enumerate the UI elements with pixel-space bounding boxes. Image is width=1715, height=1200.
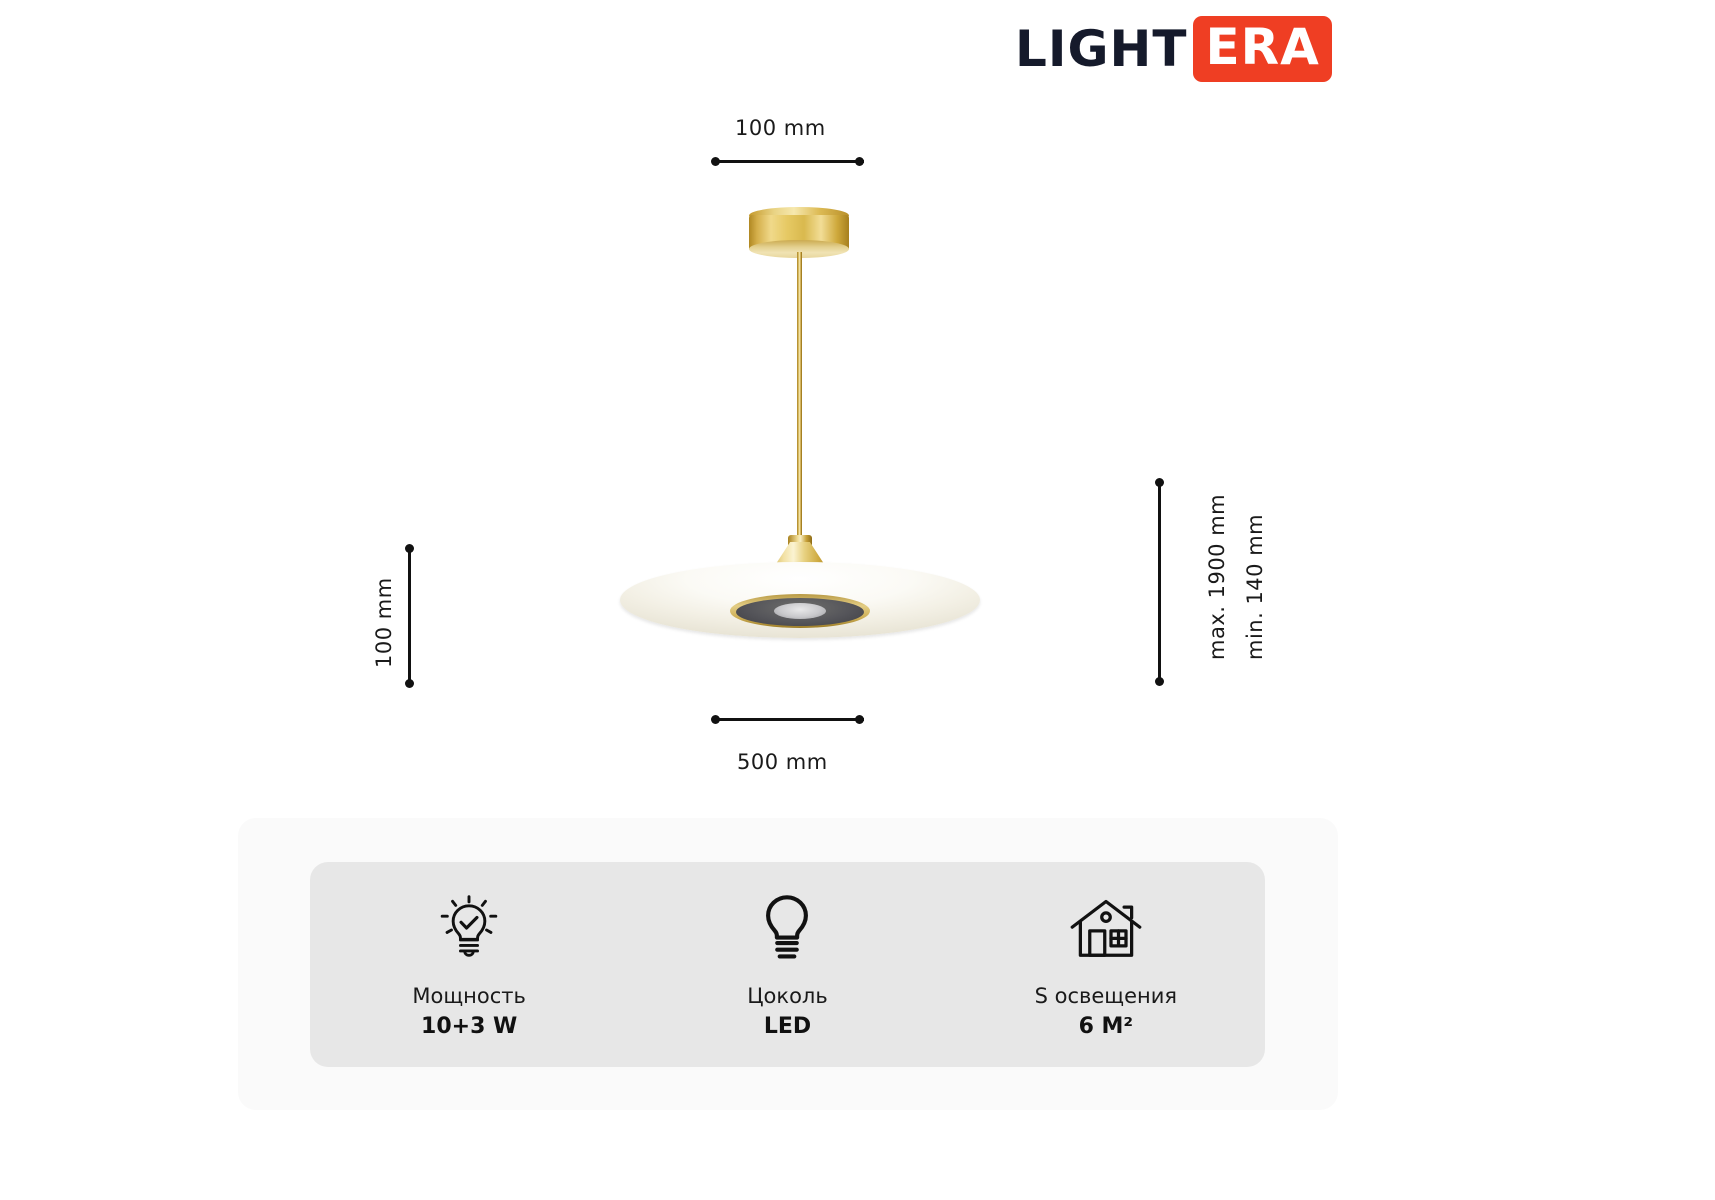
spec-value: 10+3 W <box>421 1013 517 1042</box>
spec-title: Цоколь <box>747 983 827 1009</box>
dimension-endpoint-top-right <box>855 157 864 166</box>
spec-card-socket: Цоколь LED <box>628 862 946 1067</box>
logo-text-era: ERA <box>1193 16 1331 82</box>
dimension-line-top <box>716 160 864 163</box>
led-module <box>774 603 826 619</box>
spec-value: LED <box>764 1013 811 1042</box>
spec-panel: Мощность 10+3 W Цоколь LED <box>310 862 1265 1067</box>
dimension-label-max-height: max. 1900 mm <box>1205 494 1229 660</box>
spec-title: S освещения <box>1035 983 1177 1009</box>
dimension-endpoint-right-top <box>1155 478 1164 487</box>
dimension-endpoint-left-bottom <box>405 679 414 688</box>
dimension-endpoint-bottom-right <box>855 715 864 724</box>
dimension-endpoint-bottom-left <box>711 715 720 724</box>
dimension-label-shade-diameter: 500 mm <box>737 750 828 774</box>
dimension-label-fixture-height: 100 mm <box>372 577 396 668</box>
dimension-label-canopy-diameter: 100 mm <box>735 116 826 140</box>
logo-text-light: LIGHT <box>1015 24 1193 74</box>
dimension-line-bottom <box>716 718 864 721</box>
house-icon <box>1064 887 1148 971</box>
dimension-label-min-height: min. 140 mm <box>1243 514 1267 660</box>
lightbulb-icon <box>745 887 829 971</box>
spec-title: Мощность <box>412 983 525 1009</box>
product-spec-sheet: LIGHT ERA 100 mm 500 mm 100 mm max. 1900… <box>0 0 1715 1200</box>
lightbulb-check-icon <box>427 887 511 971</box>
suspension-cord <box>797 252 802 552</box>
dimension-line-left <box>408 548 411 684</box>
dimension-endpoint-top-left <box>711 157 720 166</box>
dimension-endpoint-right-bottom <box>1155 677 1164 686</box>
spec-value: 6 M² <box>1079 1013 1134 1042</box>
dimension-line-right <box>1158 482 1161 682</box>
brand-logo: LIGHT ERA <box>1015 18 1332 80</box>
spec-card-power: Мощность 10+3 W <box>310 862 628 1067</box>
product-illustration <box>560 190 1060 660</box>
dimension-endpoint-left-top <box>405 544 414 553</box>
spec-card-area: S освещения 6 M² <box>947 862 1265 1067</box>
